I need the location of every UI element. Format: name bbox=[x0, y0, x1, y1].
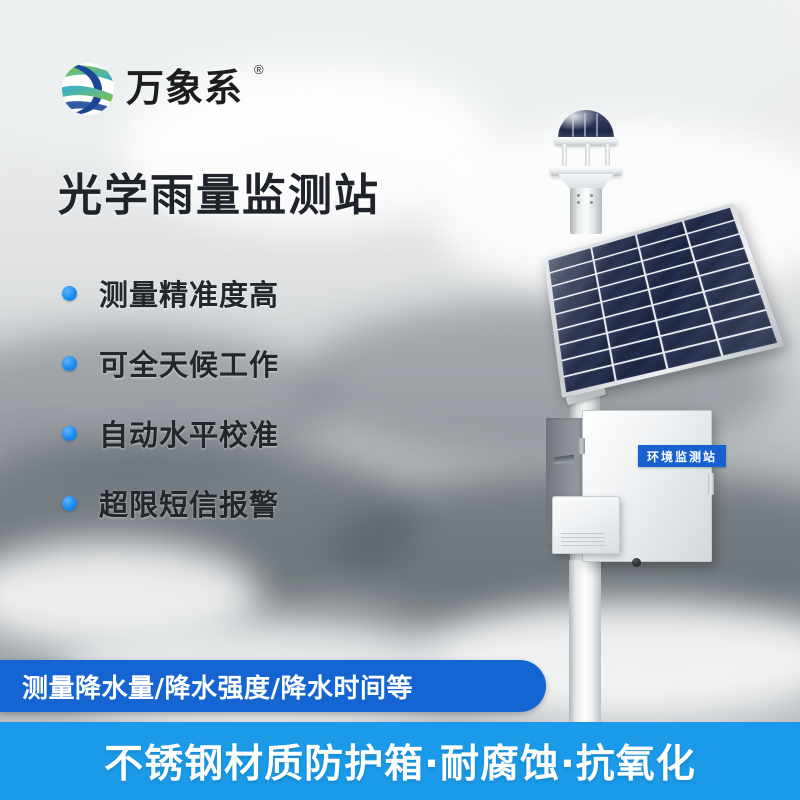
sensor-barrel bbox=[570, 188, 602, 234]
list-item: 自动水平校准 bbox=[62, 398, 392, 468]
feature-list: 测量精准度高 可全天候工作 自动水平校准 超限短信报警 bbox=[62, 258, 392, 538]
cabinet-battery-box bbox=[552, 496, 620, 554]
bullet-dot-icon bbox=[62, 286, 77, 301]
sensor-dome bbox=[558, 110, 614, 140]
control-cabinet: 环境监测站 bbox=[546, 410, 712, 570]
sensor-post bbox=[585, 144, 590, 168]
bullet-dot-icon bbox=[62, 496, 77, 511]
product-banner: 万象系 ® 光学雨量监测站 测量精准度高 可全天候工作 自动水平校准 超限短信报… bbox=[0, 0, 800, 800]
sensor-post bbox=[562, 144, 567, 168]
brand-name: 万象系 bbox=[126, 64, 243, 112]
list-item: 可全天候工作 bbox=[62, 328, 392, 398]
registered-mark: ® bbox=[254, 62, 264, 77]
cabinet-hinge bbox=[578, 438, 585, 454]
page-title: 光学雨量监测站 bbox=[58, 168, 380, 224]
footer-banner-text: 不锈钢材质防护箱·耐腐蚀·抗氧化 bbox=[104, 733, 696, 789]
brand-logo: 万象系 ® bbox=[58, 58, 298, 120]
highlight-banner-text: 测量降水量/降水强度/降水时间等 bbox=[22, 668, 413, 705]
feature-label: 可全天候工作 bbox=[99, 342, 279, 384]
mounting-pole-lower bbox=[569, 560, 601, 730]
cabinet-vent bbox=[554, 455, 574, 465]
cabinet-name-plate: 环境监测站 bbox=[638, 445, 726, 467]
feature-label: 测量精准度高 bbox=[99, 272, 279, 314]
cabinet-cable-gland bbox=[632, 558, 641, 567]
cabinet-latch bbox=[708, 473, 714, 495]
feature-label: 自动水平校准 bbox=[99, 412, 279, 454]
footer-banner: 不锈钢材质防护箱·耐腐蚀·抗氧化 bbox=[0, 722, 800, 800]
battery-box-vents bbox=[561, 533, 605, 547]
list-item: 测量精准度高 bbox=[62, 258, 392, 328]
sensor-post bbox=[605, 144, 610, 168]
optical-rain-sensor bbox=[548, 110, 624, 232]
highlight-banner: 测量降水量/降水强度/降水时间等 bbox=[0, 660, 546, 712]
product-image: 环境监测站 bbox=[470, 100, 800, 730]
cabinet-label-text: 环境监测站 bbox=[647, 448, 717, 465]
bullet-dot-icon bbox=[62, 356, 77, 371]
bullet-dot-icon bbox=[62, 426, 77, 441]
globe-sphere-logo-icon bbox=[58, 60, 118, 118]
feature-label: 超限短信报警 bbox=[99, 482, 279, 524]
list-item: 超限短信报警 bbox=[62, 468, 392, 538]
